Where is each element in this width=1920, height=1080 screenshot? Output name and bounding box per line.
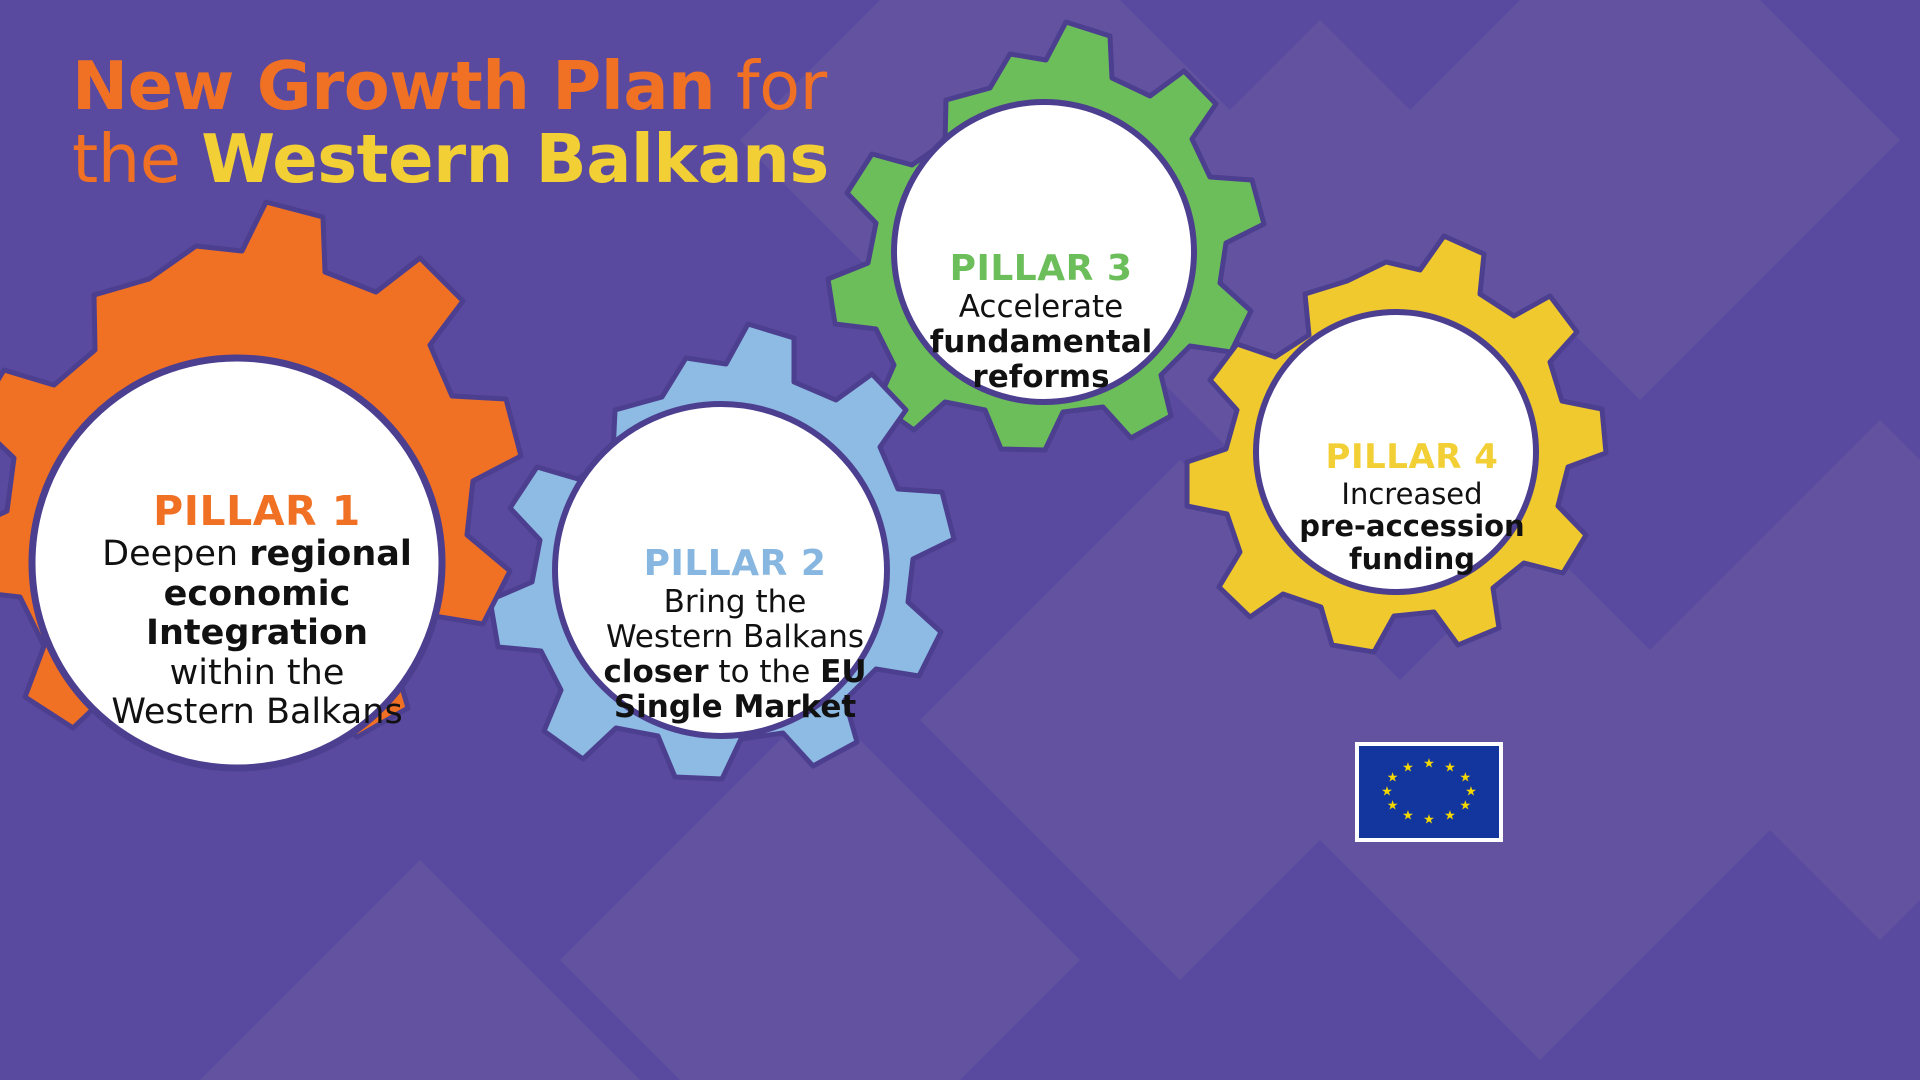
pillar-1-line-1: Deepen regional [102,535,412,575]
eu-star-icon: ★ [1402,762,1414,775]
pillar-3-line-1: Accelerate [930,290,1153,325]
eu-star-icon: ★ [1423,758,1435,771]
eu-star-icon: ★ [1387,772,1399,785]
pillar-2-body: Bring the Western Balkans closer to the … [604,585,867,725]
eu-star-icon: ★ [1460,772,1472,785]
pillar-1-body: Deepen regional economic Integration wit… [102,535,412,733]
eu-star-icon: ★ [1444,762,1456,775]
eu-flag: ★★★★★★★★★★★★ [1355,742,1503,842]
pillar-3-line-3: reforms [930,360,1153,395]
eu-star-icon: ★ [1465,786,1477,799]
pillar-2-line-1: Bring the [604,585,867,620]
eu-star-icon: ★ [1402,809,1414,822]
pillar-2-line-4: Single Market [604,690,867,725]
pillar-1-line-4: within the [102,654,412,694]
pillar-2-line-2: Western Balkans [604,620,867,655]
pillar-3-body: Accelerate fundamental reforms [930,290,1153,395]
pillar-2-heading: PILLAR 2 [644,545,827,583]
infographic-canvas: New Growth Plan for the Western Balkans [0,0,1920,1080]
pillar-4-line-1: Increased [1299,478,1524,511]
eu-star-icon: ★ [1423,813,1435,826]
pillar-2-line-3: closer to the EU [604,655,867,690]
eu-star-icon: ★ [1381,786,1393,799]
pillar-4-body: Increased pre-accession funding [1299,478,1524,576]
pillar-4-line-2: pre-accession [1299,510,1524,543]
eu-star-icon: ★ [1444,809,1456,822]
pillar-3-heading: PILLAR 3 [950,250,1133,288]
pillar-3-content: PILLAR 3 Accelerate fundamental reforms [886,250,1196,395]
pillar-1-line-5: Western Balkans [102,693,412,733]
pillar-4-line-3: funding [1299,543,1524,576]
pillar-1-heading: PILLAR 1 [153,490,361,533]
eu-star-icon: ★ [1460,799,1472,812]
eu-flag-field: ★★★★★★★★★★★★ [1359,746,1499,838]
eu-star-icon: ★ [1387,799,1399,812]
pillar-4-content: PILLAR 4 Increased pre-accession funding [1262,440,1562,576]
pillar-2-content: PILLAR 2 Bring the Western Balkans close… [570,545,900,725]
pillar-1-content: PILLAR 1 Deepen regional economic Integr… [57,490,457,733]
pillar-4-heading: PILLAR 4 [1326,440,1499,476]
pillar-1-line-3: Integration [102,614,412,654]
pillar-1-line-2: economic [102,575,412,615]
pillar-3-line-2: fundamental [930,325,1153,360]
